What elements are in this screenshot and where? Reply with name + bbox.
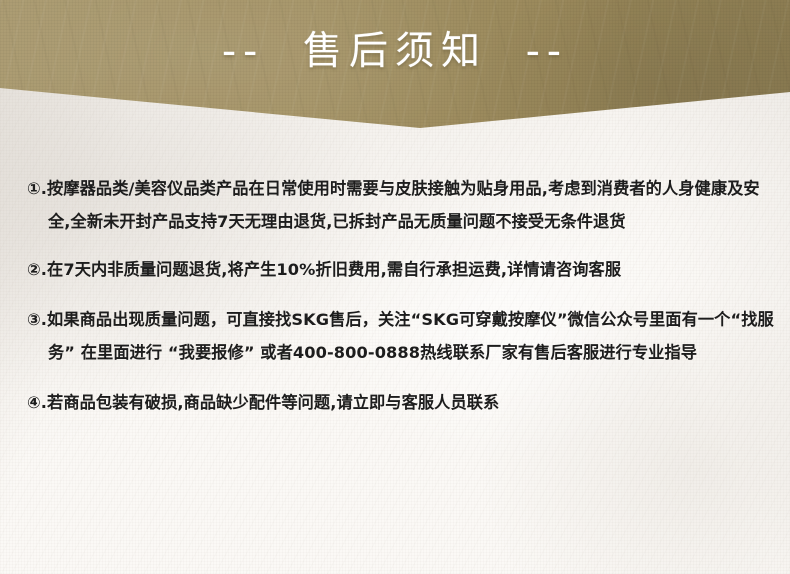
list-item: ③.如果商品出现质量问题，可直接找SKG售后，关注“SKG可穿戴按摩仪”微信公众… — [27, 303, 779, 369]
after-sales-notice-page: -- 售后须知 -- ①.按摩器品类/美容仪品类产品在日常使用时需要与皮肤接触为… — [0, 0, 790, 574]
notice-list: ①.按摩器品类/美容仪品类产品在日常使用时需要与皮肤接触为贴身用品,考虑到消费者… — [27, 172, 779, 419]
page-title: -- 售后须知 -- — [0, 0, 790, 96]
list-item: ①.按摩器品类/美容仪品类产品在日常使用时需要与皮肤接触为贴身用品,考虑到消费者… — [27, 172, 779, 238]
list-item: ②.在7天内非质量问题退货,将产生10%折旧费用,需自行承担运费,详情请咨询客服 — [27, 253, 779, 286]
list-item: ④.若商品包装有破损,商品缺少配件等问题,请立即与客服人员联系 — [27, 386, 779, 419]
